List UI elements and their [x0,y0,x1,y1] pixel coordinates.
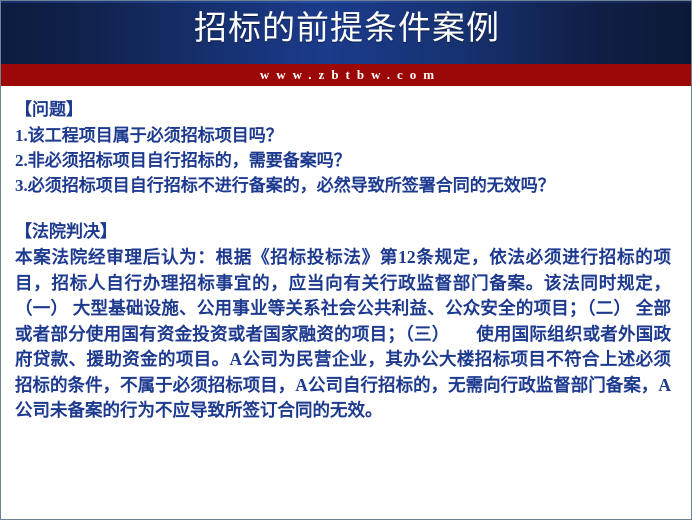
presentation-slide: 招标的前提条件案例 www.zbtbw.com 【问题】 1.该工程项目属于必须… [0,0,692,520]
question-item-1: 1.该工程项目属于必须招标项目吗？ [15,123,675,148]
section-spacer [15,198,675,220]
verdict-section-body: 本案法院经审理后认为：根据《招标投标法》第12条规定，依法必须进行招标的项目，招… [15,245,675,424]
verdict-section-heading: 【法院判决】 [15,220,675,244]
website-url-bar: www.zbtbw.com [1,64,692,86]
question-item-3: 3.必须招标项目自行招标不进行备案的，必然导致所签署合同的无效吗？ [15,173,675,198]
slide-content-area: 【问题】 1.该工程项目属于必须招标项目吗？ 2.非必须招标项目自行招标的，需要… [1,86,692,519]
questions-section-heading: 【问题】 [15,98,675,122]
question-item-2: 2.非必须招标项目自行招标的，需要备案吗？ [15,148,675,173]
slide-header-band: 招标的前提条件案例 [1,1,692,64]
website-url-text: www.zbtbw.com [253,67,441,83]
header-top-accent-line [1,1,692,3]
page-title: 招标的前提条件案例 [1,6,692,52]
